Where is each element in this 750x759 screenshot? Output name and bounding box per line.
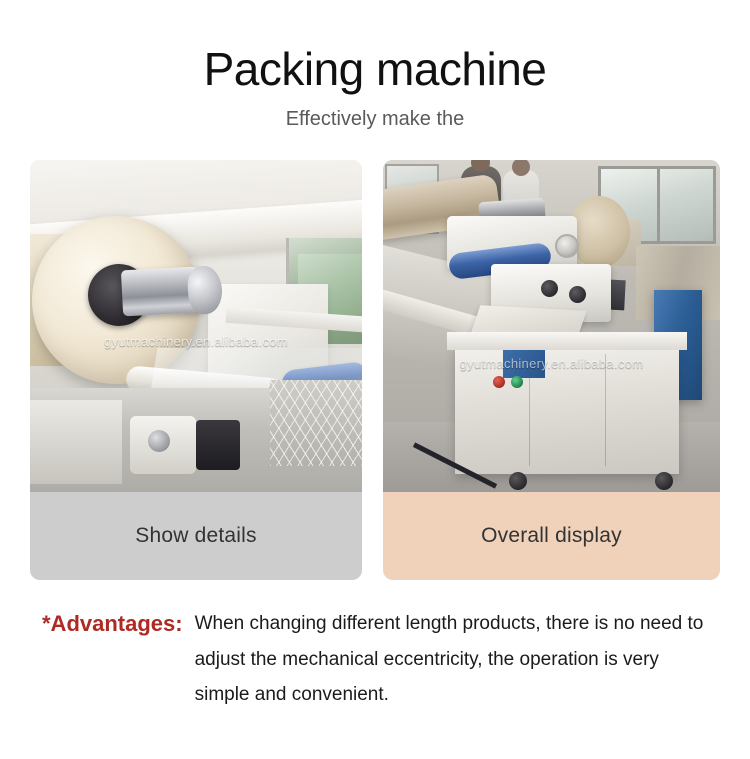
photo-overall-display: gyutmachinery.en.alibaba.com xyxy=(383,160,720,492)
advantages-text: When changing different length products,… xyxy=(195,606,718,713)
page-title: Packing machine xyxy=(0,44,750,96)
photo-show-details: gyutmachinery.en.alibaba.com xyxy=(30,160,362,492)
caption-show-details[interactable]: Show details xyxy=(30,492,362,580)
image-cards-row: gyutmachinery.en.alibaba.com Show detail… xyxy=(30,160,720,580)
advantages-block: *Advantages: When changing different len… xyxy=(42,606,718,713)
advantages-label: *Advantages: xyxy=(42,606,195,642)
film-roll-photo-illustration xyxy=(30,160,362,492)
card-overall-display[interactable]: gyutmachinery.en.alibaba.com Overall dis… xyxy=(383,160,720,580)
caption-overall-display[interactable]: Overall display xyxy=(383,492,720,580)
product-promo-page: Packing machine Effectively make the xyxy=(0,0,750,759)
packing-machine-photo-illustration xyxy=(383,160,720,492)
card-show-details[interactable]: gyutmachinery.en.alibaba.com Show detail… xyxy=(30,160,362,580)
page-subtitle: Effectively make the xyxy=(0,107,750,131)
header: Packing machine Effectively make the xyxy=(0,0,750,131)
